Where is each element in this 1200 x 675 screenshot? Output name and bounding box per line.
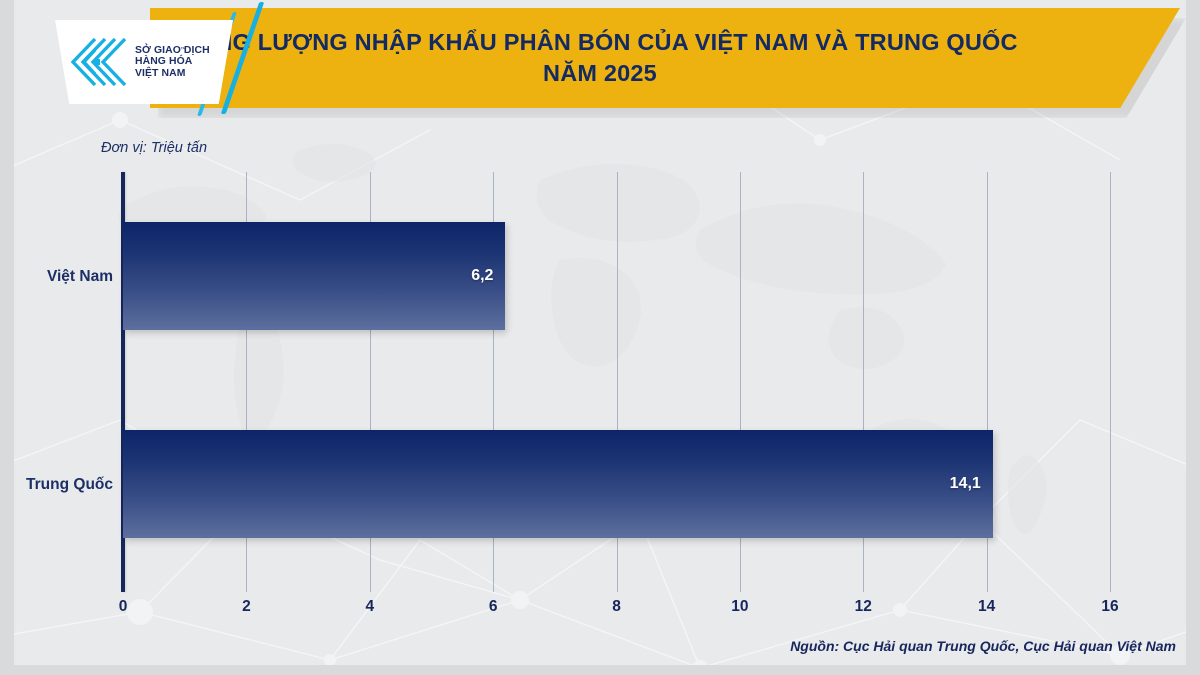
category-label-2: Trung Quốc [8, 476, 113, 494]
bar-value-label-2: 14,1 [950, 475, 981, 493]
gridline-16 [1110, 172, 1111, 592]
x-tick-2: 2 [242, 598, 251, 616]
x-tick-14: 14 [978, 598, 995, 616]
source-attribution: Nguồn: Cục Hải quan Trung Quốc, Cục Hải … [790, 638, 1176, 654]
title-line-2: NĂM 2025 [543, 60, 657, 88]
page-title: TỔNG LƯỢNG NHẬP KHẨU PHÂN BÓN CỦA VIỆT N… [250, 8, 950, 108]
x-tick-0: 0 [119, 598, 128, 616]
title-line-1: TỔNG LƯỢNG NHẬP KHẨU PHÂN BÓN CỦA VIỆT N… [182, 29, 1017, 57]
unit-label: Đơn vị: Triệu tấn [101, 140, 207, 156]
bar-2: 14,1 [123, 430, 993, 538]
x-tick-12: 12 [855, 598, 872, 616]
x-tick-8: 8 [612, 598, 621, 616]
x-tick-6: 6 [489, 598, 498, 616]
infographic-canvas: TỔNG LƯỢNG NHẬP KHẨU PHÂN BÓN CỦA VIỆT N… [0, 0, 1200, 675]
logo-line-3: VIỆT NAM [135, 68, 210, 79]
bar-1: 6,2 [123, 222, 505, 330]
logo-line-1: SỞ GIAO DỊCH [135, 45, 210, 56]
header: TỔNG LƯỢNG NHẬP KHẨU PHÂN BÓN CỦA VIỆT N… [0, 0, 1200, 122]
x-tick-4: 4 [365, 598, 374, 616]
x-tick-16: 16 [1101, 598, 1118, 616]
bar-value-label-1: 6,2 [471, 267, 493, 285]
logo-card: SỞ GIAO DỊCH HÀNG HÓA VIỆT NAM ™ [55, 20, 233, 104]
mxv-maze-logo-icon [65, 36, 129, 88]
logo-line-2: HÀNG HÓA [135, 56, 210, 67]
category-label-1: Việt Nam [8, 268, 113, 286]
x-tick-10: 10 [731, 598, 748, 616]
logo-wordmark: SỞ GIAO DỊCH HÀNG HÓA VIỆT NAM [135, 45, 210, 79]
trademark-symbol: ™ [180, 47, 186, 53]
